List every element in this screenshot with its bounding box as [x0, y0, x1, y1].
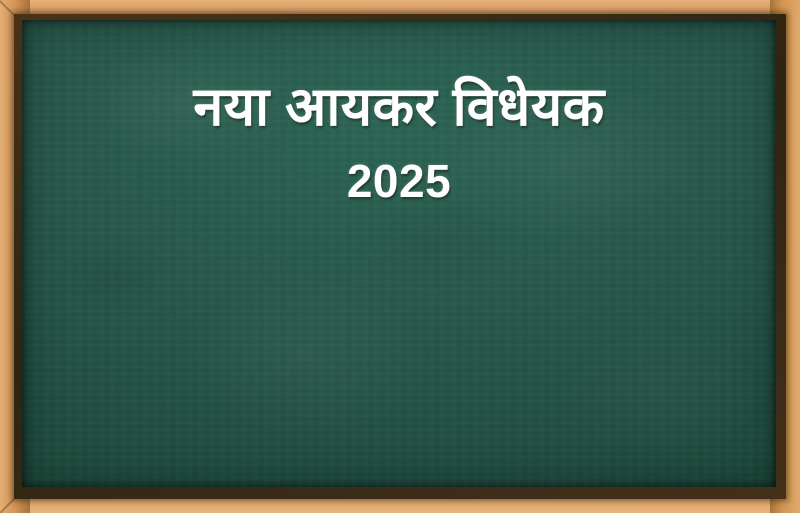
slate-edge-left — [22, 20, 28, 487]
chalkboard-poster: नया आयकर विधेयक 2025 — [0, 0, 800, 513]
slate-edge-top — [22, 20, 776, 25]
slate-edge-bottom — [22, 481, 776, 487]
chalkboard-surface: नया आयकर विधेयक 2025 — [22, 20, 776, 487]
year-text: 2025 — [22, 158, 776, 204]
headline-text: नया आयकर विधेयक — [22, 78, 776, 136]
chalk-text-block: नया आयकर विधेयक 2025 — [22, 78, 776, 204]
slate-edge-right — [769, 20, 776, 487]
